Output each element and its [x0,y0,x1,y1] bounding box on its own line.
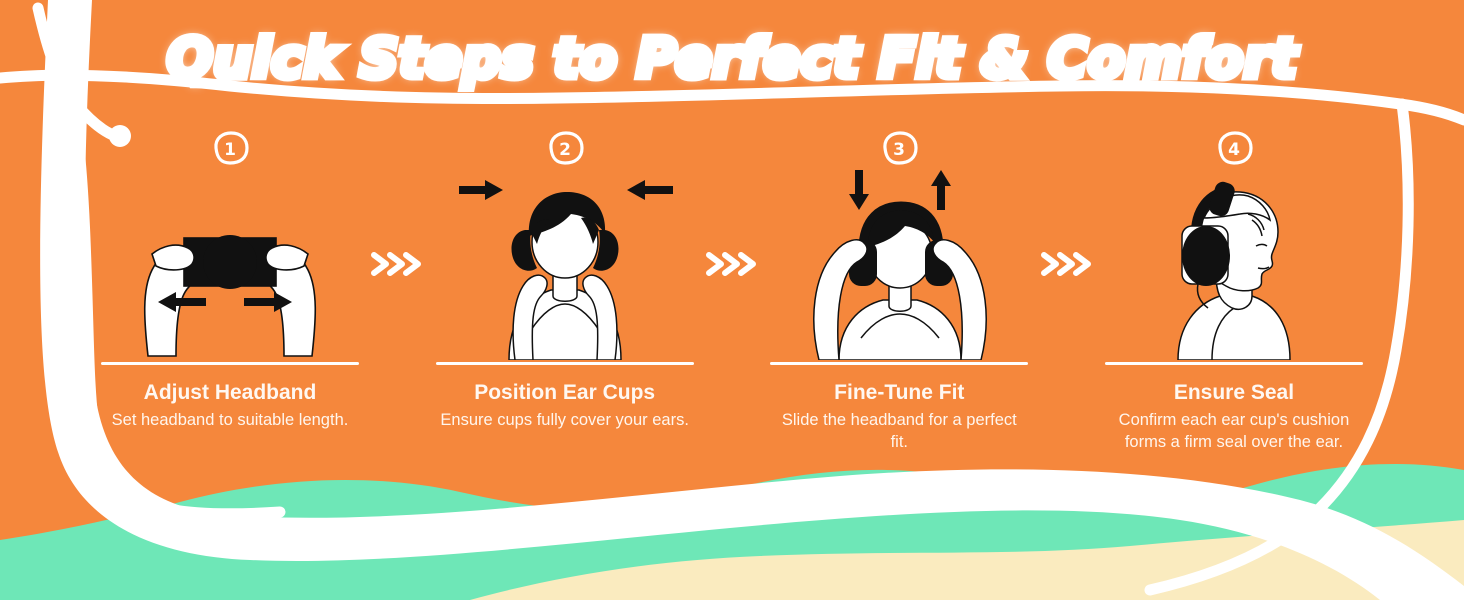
step-baseline-3 [770,362,1028,365]
arrow-left-icon [627,180,673,200]
step-item-4: 4 [1100,128,1368,454]
step-number-1: 1 [224,140,236,160]
person-sliding-headband-illustration [765,170,1033,360]
infographic-banner: Quick Steps to Perfect Fit & Comfort 1 [0,0,1464,600]
step-baseline-1 [101,362,359,365]
step-baseline-2 [436,362,694,365]
step-separator-2 [705,250,759,283]
step-title-4: Ensure Seal [1174,381,1294,405]
step-number-3: 3 [893,140,905,160]
step-item-3: 3 [765,128,1033,454]
step-description-1: Set headband to suitable length. [112,410,349,432]
chevrons-right-icon [1040,250,1094,278]
step-title-2: Position Ear Cups [474,381,655,405]
step-description-3: Slide the headband for a perfect fit. [774,410,1024,454]
step-title-1: Adjust Headband [144,381,317,405]
arrow-up-icon [931,170,951,210]
step-description-4: Confirm each ear cup's cushion forms a f… [1109,410,1359,454]
circled-number-4-icon: 4 [1212,128,1256,168]
cream-wave-shape [470,520,1464,600]
step-item-2: 2 [431,128,699,432]
step-badge-1: 1 [208,128,252,168]
steps-row: 1 [96,128,1368,468]
circled-number-3-icon: 3 [877,128,921,168]
step-number-4: 4 [1228,140,1240,160]
step-badge-4: 4 [1212,128,1256,168]
mint-wave-shape [0,464,1464,600]
side-profile-wearing-headphones-illustration [1100,170,1368,360]
step-badge-3: 3 [877,128,921,168]
step-badge-2: 2 [543,128,587,168]
title-container: Quick Steps to Perfect Fit & Comfort [0,26,1464,92]
chevrons-right-icon [705,250,759,278]
step-item-1: 1 [96,128,364,432]
step-separator-1 [370,250,424,283]
circled-number-1-icon: 1 [208,128,252,168]
person-positioning-ear-cups-illustration [431,170,699,360]
arrow-right-icon [459,180,503,200]
step-description-2: Ensure cups fully cover your ears. [440,410,689,432]
page-title: Quick Steps to Perfect Fit & Comfort [153,26,1311,92]
step-title-3: Fine-Tune Fit [834,381,964,405]
step-separator-3 [1040,250,1094,283]
arrow-down-icon [849,170,869,210]
step-number-2: 2 [559,140,571,160]
circled-number-2-icon: 2 [543,128,587,168]
hands-adjusting-headband-illustration [96,170,364,360]
step-baseline-4 [1105,362,1363,365]
chevrons-right-icon [370,250,424,278]
